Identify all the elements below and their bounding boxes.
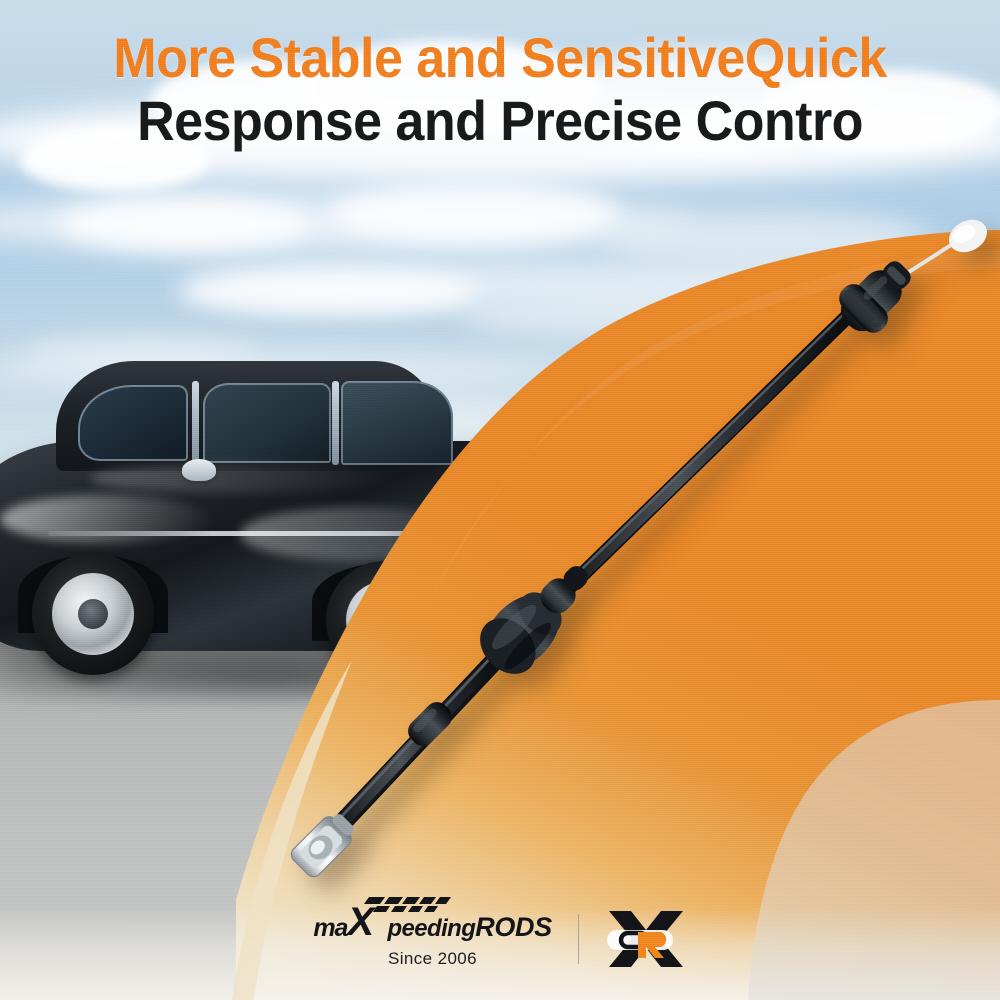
- cloud: [620, 368, 960, 408]
- car-hood: [578, 456, 978, 564]
- cloud: [460, 292, 790, 338]
- grille-chrome-bar: [604, 632, 890, 636]
- product-banner: More Stable and SensitiveQuick Response …: [0, 0, 1000, 1000]
- door-window: [203, 383, 331, 463]
- windshield: [341, 381, 453, 465]
- front-grille: [598, 556, 902, 670]
- headline-block: More Stable and SensitiveQuick Response …: [0, 26, 1000, 153]
- body-highlight: [90, 463, 390, 493]
- front-hub: [370, 605, 400, 635]
- cloud: [330, 182, 620, 244]
- license-plate-recess: [852, 673, 914, 703]
- brand-part-peeding: peeding: [387, 917, 475, 941]
- cloud: [600, 210, 930, 268]
- classic-car-front-view: [560, 430, 1000, 760]
- brand-part-ma: ma: [313, 916, 347, 941]
- cloud: [180, 268, 480, 316]
- hood-emblem: [792, 484, 816, 504]
- headline-line-2: Response and Precise Contro: [35, 89, 965, 152]
- brand-x-wrap: X: [347, 908, 387, 941]
- hood-scoop-right: [772, 474, 882, 508]
- brand-part-rods: RODS: [475, 914, 551, 941]
- footer-logo-bar: ma X: [0, 896, 1000, 982]
- brand-wordmark: ma X: [313, 911, 551, 941]
- cloud: [60, 196, 310, 252]
- headline-line-1: More Stable and SensitiveQuick: [35, 26, 965, 89]
- rear-hub: [78, 599, 108, 629]
- grille-chrome-bar: [604, 596, 890, 600]
- b-pillar: [192, 381, 199, 465]
- b-pillar: [332, 381, 339, 465]
- brand-tagline: Since 2006: [388, 950, 477, 967]
- rear-quarter-window: [78, 385, 188, 461]
- hood-stripe: [600, 458, 930, 464]
- body-highlight: [0, 495, 210, 543]
- maxpeedingrods-logo[interactable]: ma X: [313, 911, 551, 967]
- logo-divider: [578, 914, 579, 964]
- oxr-logo[interactable]: [605, 908, 687, 970]
- checkered-flag-icon: [363, 896, 463, 912]
- classic-car-side-view: [0, 355, 600, 715]
- body-highlight: [240, 507, 480, 561]
- hood-scoop-left: [630, 474, 750, 508]
